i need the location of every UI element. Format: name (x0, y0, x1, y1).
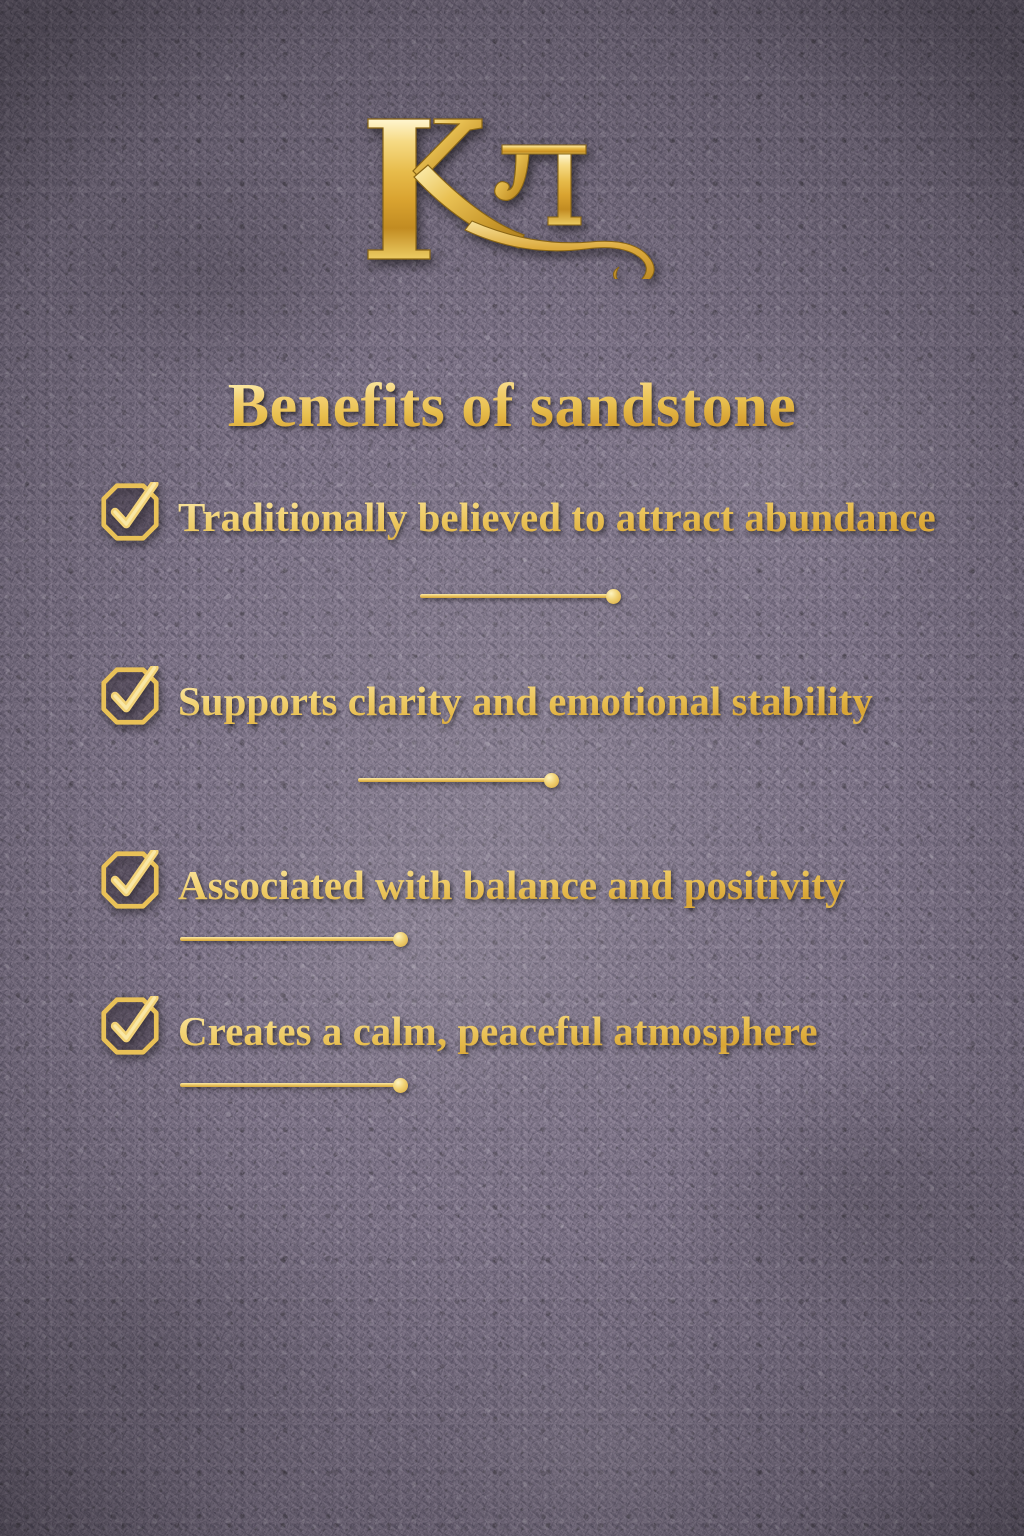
connector-bar (358, 778, 546, 782)
item-connector-rule (358, 773, 559, 787)
item-connector-rule (180, 1078, 408, 1092)
connector-dot (606, 589, 621, 604)
connector-dot (544, 773, 559, 788)
poster-canvas: Kл Benefits of sandstone Traditionally b… (0, 0, 1024, 1536)
checkbox-checked-icon[interactable] (100, 996, 160, 1056)
page-title: Benefits of sandstone (0, 374, 1024, 439)
list-item[interactable]: Associated with balance and positivity (100, 854, 984, 994)
ka-monogram-logo: Kл (352, 109, 672, 279)
checkbox-checked-icon[interactable] (100, 666, 160, 726)
benefits-list: Traditionally believed to attract abunda… (100, 486, 984, 1146)
list-item-label: Creates a calm, peaceful atmosphere (178, 1000, 818, 1060)
connector-bar (420, 594, 608, 598)
list-item[interactable]: Supports clarity and emotional stability (100, 670, 984, 848)
list-item[interactable]: Creates a calm, peaceful atmosphere (100, 1000, 984, 1140)
list-item-label: Traditionally believed to attract abunda… (178, 486, 936, 546)
checkbox-checked-icon[interactable] (100, 850, 160, 910)
checkbox-checked-icon[interactable] (100, 482, 160, 542)
connector-dot (393, 1078, 408, 1093)
connector-bar (180, 1083, 395, 1087)
list-item-label: Associated with balance and positivity (178, 854, 845, 914)
item-connector-rule (420, 589, 621, 603)
item-connector-rule (180, 932, 408, 946)
list-item[interactable]: Traditionally believed to attract abunda… (100, 486, 984, 664)
connector-dot (393, 932, 408, 947)
connector-bar (180, 937, 395, 941)
brand-logo: Kл (0, 104, 1024, 284)
list-item-label: Supports clarity and emotional stability (178, 670, 873, 730)
